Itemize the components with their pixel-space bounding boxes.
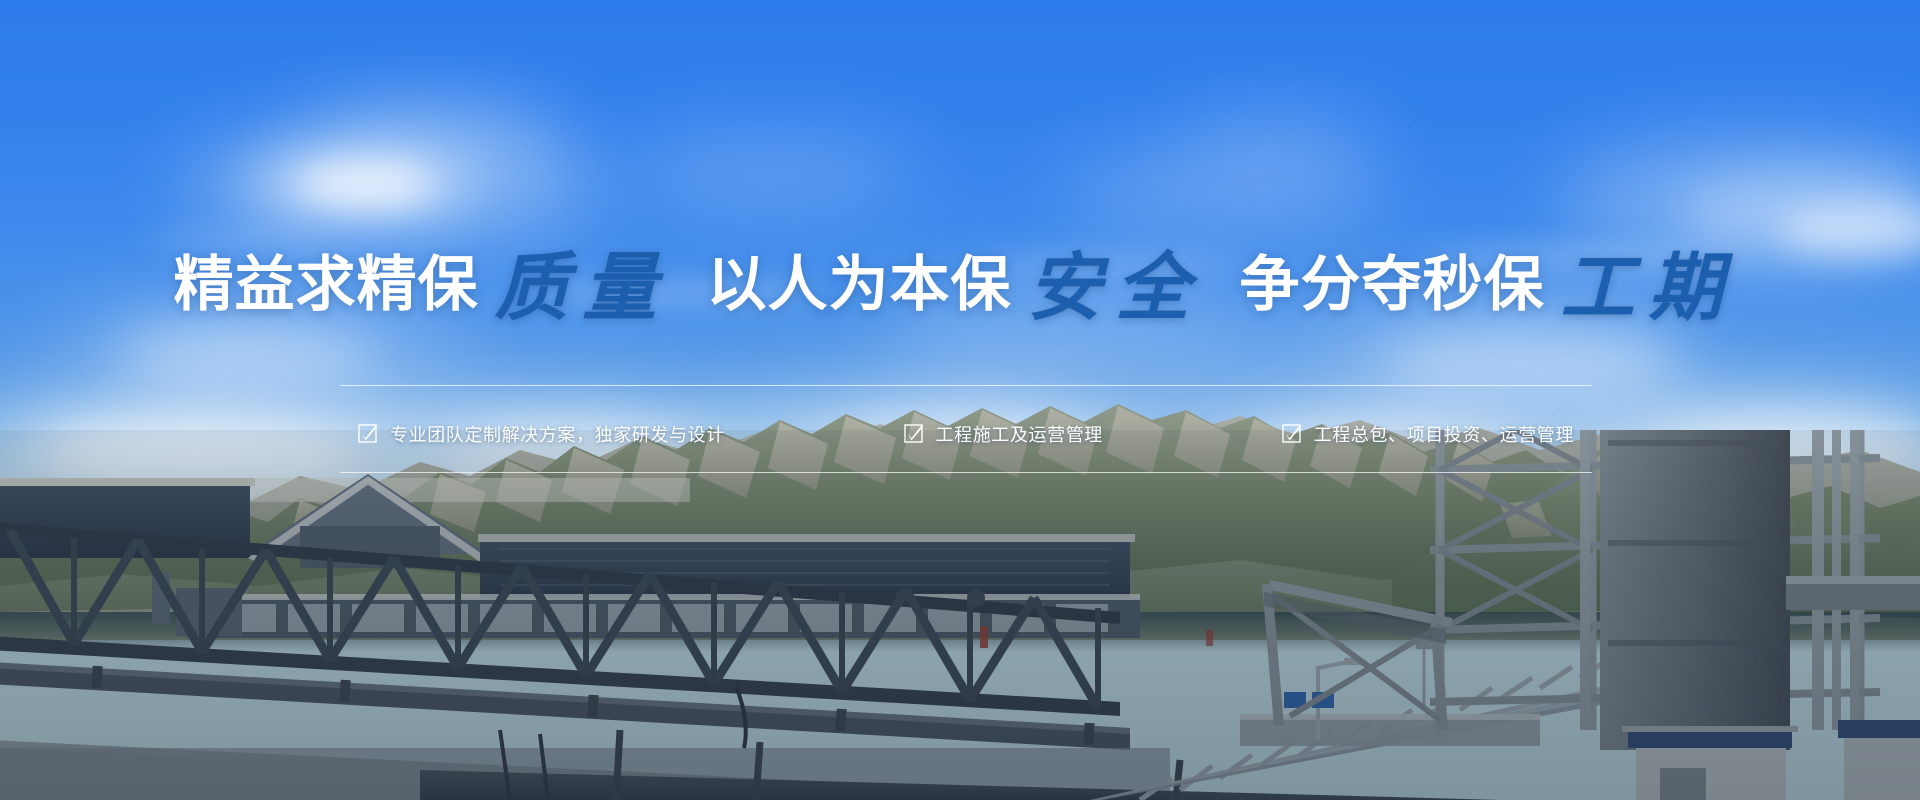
headline-brush-safety: 安全 bbox=[1028, 248, 1204, 330]
divider-bottom bbox=[340, 472, 1592, 473]
feature-label: 专业团队定制解决方案，独家研发与设计 bbox=[390, 421, 725, 447]
feature-item-epc[interactable]: 工程总包、项目投资、运营管理 bbox=[1282, 421, 1574, 447]
headline-segment-3: 争分夺秒保 bbox=[1240, 251, 1545, 318]
banner-content: 精益求精保质量以人为本保安全争分夺秒保工期 专业团队定制解决方案，独家研发与设计 bbox=[0, 0, 1920, 800]
feature-item-solutions[interactable]: 专业团队定制解决方案，独家研发与设计 bbox=[358, 421, 725, 447]
checkbox-checked-icon bbox=[358, 424, 377, 443]
feature-label: 工程施工及运营管理 bbox=[936, 421, 1103, 447]
headline-segment-1: 精益求精保 bbox=[174, 251, 479, 318]
feature-list: 专业团队定制解决方案，独家研发与设计 工程施工及运营管理 bbox=[340, 395, 1592, 472]
feature-label: 工程总包、项目投资、运营管理 bbox=[1314, 421, 1574, 447]
feature-item-construction[interactable]: 工程施工及运营管理 bbox=[904, 421, 1103, 447]
checkbox-checked-icon bbox=[904, 424, 923, 443]
headline-segment-2: 以人为本保 bbox=[707, 251, 1012, 318]
divider-top bbox=[340, 385, 1592, 386]
headline-brush-schedule: 工期 bbox=[1561, 248, 1737, 330]
headline-brush-quality: 质量 bbox=[495, 248, 671, 330]
checkbox-checked-icon bbox=[1282, 424, 1301, 443]
hero-banner: 精益求精保质量以人为本保安全争分夺秒保工期 专业团队定制解决方案，独家研发与设计 bbox=[0, 0, 1920, 800]
headline: 精益求精保质量以人为本保安全争分夺秒保工期 bbox=[0, 248, 1920, 322]
